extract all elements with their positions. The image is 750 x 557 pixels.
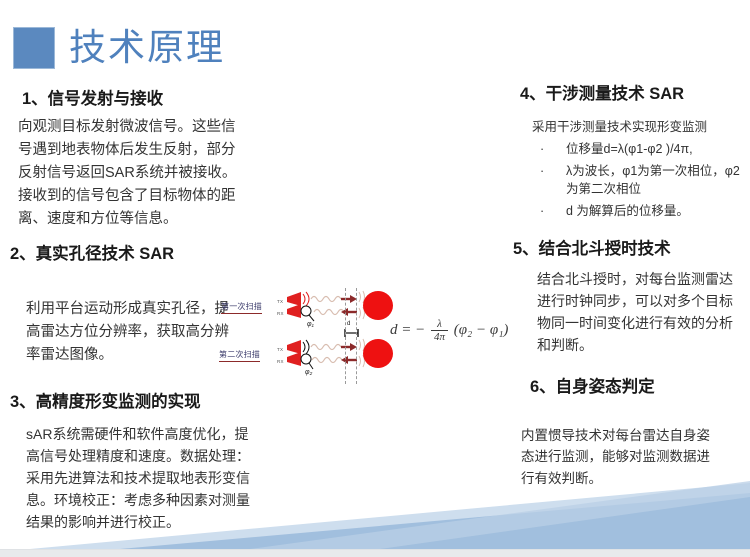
formula-equals: = − [401,322,425,338]
bullet-icon: · [540,141,544,159]
section-1-heading: 1、信号发射与接收 [22,85,163,109]
title-label: 技术原理 [69,27,225,69]
bullet-icon: · [540,163,544,181]
title-accent-square [13,27,55,69]
section-3-heading: 3、高精度形变监测的实现 [10,388,201,412]
formula-numerator: λ [434,318,445,330]
page-title: 技术原理 [13,27,225,69]
arrow-out-first [341,295,357,303]
list-item-label: λ为波长，φ1为第一次相位，φ2为第二次相位 [566,164,740,196]
wave-out-second [311,345,341,350]
wave-in-second [312,358,342,363]
tx-antenna-second [287,340,309,354]
arrow-in-first [341,308,357,316]
list-item-label: d 为解算后的位移量。 [566,204,689,218]
rx-antenna-first [287,304,314,321]
section-1-body: 向观测目标发射微波信号。这些信号遇到地表物体后发生反射，部分反射信号返回SAR系… [18,116,243,231]
section-6-heading: 6、自身姿态判定 [530,373,655,397]
arrow-out-second [341,343,357,351]
target-second [363,339,393,368]
section-4-body: 采用干涉测量技术实现形变监测 · 位移量d=λ(φ1-φ2 )/4π, · λ为… [532,118,742,226]
list-item: · d 为解算后的位移量。 [532,203,742,221]
displacement-formula: d = − λ 4π (φ₂ − φ₁) [390,318,508,343]
section-4-heading: 4、干涉测量技术 SAR [520,80,684,104]
formula-denominator: 4π [431,330,448,343]
decorative-ribbon [0,467,750,557]
target-first [363,291,393,320]
slide-canvas: 技术原理 1、信号发射与接收 向观测目标发射微波信号。这些信号遇到地表物体后发生… [0,0,750,557]
section-5-body: 结合北斗授时，对每台监测雷达进行时钟同步，可以对多个目标物同一时间变化进行有效的… [537,268,742,356]
bullet-icon: · [540,203,544,221]
section-4-lead: 采用干涉测量技术实现形变监测 [532,118,742,137]
list-item: · 位移量d=λ(φ1-φ2 )/4π, [532,141,742,159]
section-2-heading: 2、真实孔径技术 SAR [10,240,174,264]
formula-fraction: λ 4π [431,318,448,343]
rx-antenna-second [287,352,313,369]
list-item: · λ为波长，φ1为第一次相位，φ2为第二次相位 [532,163,742,198]
section-2-body: 利用平台运动形成真实孔径，提高雷达方位分辨率，获取高分辨率雷达图像。 [26,298,241,367]
formula-rhs: (φ₂ − φ₁) [454,322,509,338]
reference-line-2 [356,288,357,384]
section-4-bullet-list: · 位移量d=λ(φ1-φ2 )/4π, · λ为波长，φ1为第一次相位，φ2为… [532,141,742,221]
formula-lhs: d [390,322,398,338]
reference-line-1 [345,288,346,384]
tx-antenna-first [287,292,309,306]
footer-strip [0,549,750,557]
section-5-heading: 5、结合北斗授时技术 [513,235,671,259]
wave-out-first [311,297,341,302]
wave-in-first [314,310,344,315]
arrow-in-second [341,356,357,364]
dimension-label: d [347,321,350,327]
list-item-label: 位移量d=λ(φ1-φ2 )/4π, [566,142,693,156]
insar-scan-diagram: 第一次扫描 第二次扫描 TX RX TX RX φ₁ φ₂ [215,288,490,384]
